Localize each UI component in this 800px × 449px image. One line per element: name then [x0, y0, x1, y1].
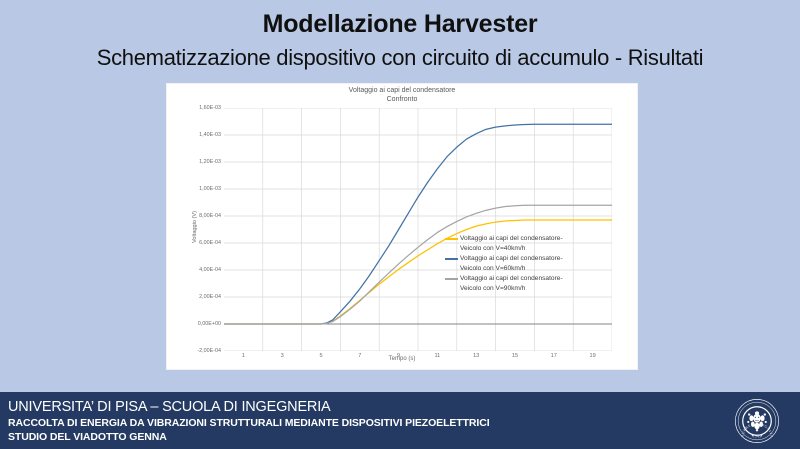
y-tick-label: 4,00E-04	[199, 267, 221, 273]
university-seal-logo: IN SUPREMA DIGNITATE 1343	[734, 398, 780, 444]
chart-svg	[224, 108, 612, 351]
y-tick-label: 2,00E-04	[199, 294, 221, 300]
x-tick-label: 11	[434, 353, 440, 359]
legend-entry[interactable]: Voltaggio ai capi del condensatore- Veic…	[445, 254, 630, 273]
x-tick-label: 19	[589, 353, 595, 359]
y-tick-label: 1,60E-03	[199, 105, 221, 111]
x-tick-label: 1	[242, 353, 245, 359]
legend-color-swatch	[445, 278, 458, 280]
page-subtitle: Schematizzazione dispositivo con circuit…	[0, 45, 800, 71]
x-tick-label: 13	[473, 353, 479, 359]
plot-area: -2,00E-040,00E+002,00E-044,00E-046,00E-0…	[224, 108, 612, 351]
x-tick-label: 17	[551, 353, 557, 359]
x-tick-label: 7	[358, 353, 361, 359]
y-tick-label: 0,00E+00	[198, 321, 221, 327]
y-tick-label: 1,00E-03	[199, 186, 221, 192]
footer-band: UNIVERSITA’ DI PISA – SCUOLA DI INGEGNER…	[0, 392, 800, 449]
legend-color-swatch	[445, 258, 458, 260]
x-axis-title: Tempo (s)	[167, 356, 637, 362]
x-tick-label: 5	[319, 353, 322, 359]
y-tick-label: -2,00E-04	[197, 348, 221, 354]
legend-label: Voltaggio ai capi del condensatore- Veic…	[460, 254, 563, 273]
legend-color-swatch	[445, 238, 458, 240]
y-axis-title: Voltaggio (V)	[192, 210, 198, 242]
chart-panel: Voltaggio ai capi del condensatore Confr…	[167, 84, 637, 369]
legend-label: Voltaggio ai capi del condensatore- Veic…	[460, 234, 563, 253]
legend-entry[interactable]: Voltaggio ai capi del condensatore- Veic…	[445, 234, 630, 253]
chart-title: Voltaggio ai capi del condensatore Confr…	[167, 86, 637, 104]
y-tick-label: 1,40E-03	[199, 132, 221, 138]
y-tick-label: 6,00E-04	[199, 240, 221, 246]
chart-legend: Voltaggio ai capi del condensatore- Veic…	[445, 234, 630, 294]
seal-year-text: 1343	[753, 435, 761, 439]
footer-project-title: RACCOLTA DI ENERGIA DA VIBRAZIONI STRUTT…	[8, 417, 490, 429]
legend-entry[interactable]: Voltaggio ai capi del condensatore- Veic…	[445, 274, 630, 293]
footer-institution: UNIVERSITA’ DI PISA – SCUOLA DI INGEGNER…	[8, 399, 331, 415]
y-tick-label: 1,20E-03	[199, 159, 221, 165]
x-tick-label: 9	[397, 353, 400, 359]
y-tick-label: 8,00E-04	[199, 213, 221, 219]
legend-label: Voltaggio ai capi del condensatore- Veic…	[460, 274, 563, 293]
footer-project-subtitle: STUDIO DEL VIADOTTO GENNA	[8, 431, 167, 443]
page-title: Modellazione Harvester	[0, 10, 800, 39]
x-tick-label: 3	[281, 353, 284, 359]
x-tick-label: 15	[512, 353, 518, 359]
